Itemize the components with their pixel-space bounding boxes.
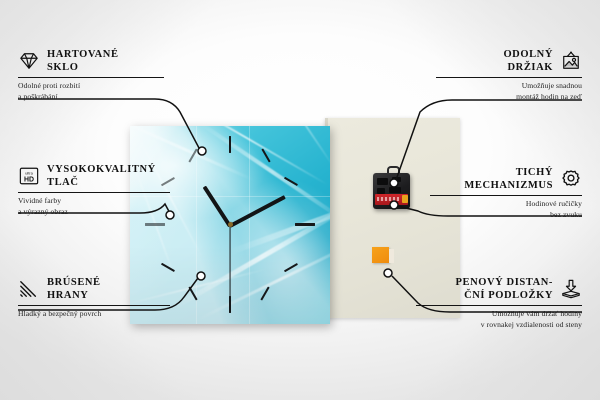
foam-spacer-icon [560,279,582,299]
feature-header: ultra HD VYSOKOKVALITNÝTLAČ [18,163,170,190]
feature-subtitle-line1: Umožňuje vám držať hodiny [492,309,582,318]
feature-header: TICHÝMECHANIZMUS [430,166,582,193]
feature-divider [18,305,170,306]
feature-foam-spacers[interactable]: PENOVÝ DISTAN-ČNÍ PODLOŽKY Umožňuje vám … [416,276,582,330]
feature-subtitle: Hladký a bezpečný povrch [18,309,170,320]
feature-subtitle-line2: montáž hodin na zeď [516,92,582,101]
feature-subtitle: Umožňuje vám držať hodinyv rovnakej vzdi… [416,309,582,331]
feature-subtitle: Umožňuje snadnoumontáž hodin na zeď [436,81,582,103]
feature-divider [416,305,582,306]
feature-subtitle: Vividné farbya výrazný obraz [18,196,170,218]
feature-durable-hanger[interactable]: ODOLNÝDRŽIAK Umožňuje snadnoumontáž hodi… [436,48,582,102]
feature-header: PENOVÝ DISTAN-ČNÍ PODLOŽKY [416,276,582,303]
picture-hanger-icon [560,51,582,71]
feature-divider [18,77,164,78]
feature-subtitle-line2: v rovnakej vzdialenosti od steny [481,320,582,329]
feature-subtitle-line1: Umožňuje snadnou [522,81,582,90]
feature-title: TICHÝMECHANIZMUS [464,166,553,193]
clock-center-hub [228,222,233,227]
infographic-canvas: HARTOVANÉSKLO Odolné proti rozbitía pošk… [0,0,600,400]
beveled-edge-icon [18,279,40,299]
feature-beveled-edges[interactable]: BRÚSENÉHRANY Hladký a bezpečný povrch [18,276,170,320]
feature-title-line1: PENOVÝ DISTAN- [456,277,553,288]
product-photo [130,118,460,324]
feature-title-line1: BRÚSENÉ [47,277,101,288]
feature-divider [436,77,582,78]
feature-title-line2: MECHANIZMUS [464,180,553,191]
hour-tick-6 [229,296,231,313]
svg-text:HD: HD [24,177,34,184]
foam-spacer-pad-side [389,249,394,263]
hour-tick-3 [295,223,315,226]
feature-title-line1: TICHÝ [516,167,553,178]
gear-icon [560,169,582,189]
feature-title-line2: DRŽIAK [508,62,553,73]
feature-title-line2: TLAČ [47,177,78,188]
feature-hardened-glass[interactable]: HARTOVANÉSKLO Odolné proti rozbitía pošk… [18,48,164,102]
svg-text:ultra: ultra [25,171,33,176]
feature-title-line2: HRANY [47,290,88,301]
battery-label [377,197,399,201]
battery-positive-terminal [402,195,408,203]
feature-title-line1: ODOLNÝ [503,49,553,60]
hour-tick-12 [229,136,231,153]
feature-title-line1: VYSOKOKVALITNÝ [47,164,156,175]
feature-subtitle-line2: a poškrábání [18,92,58,101]
second-hand [229,226,230,298]
feature-title: VYSOKOKVALITNÝTLAČ [47,163,156,190]
feature-title: ODOLNÝDRŽIAK [503,48,553,75]
feature-subtitle-line2: a výrazný obraz [18,207,68,216]
feature-header: HARTOVANÉSKLO [18,48,164,75]
feature-header: ODOLNÝDRŽIAK [436,48,582,75]
feature-title: BRÚSENÉHRANY [47,276,101,303]
feature-subtitle: Odolné proti rozbitía poškrábání [18,81,164,103]
feature-subtitle-line1: Odolné proti rozbití [18,81,80,90]
feature-title-line2: SKLO [47,62,79,73]
feature-title-line2: ČNÍ PODLOŽKY [464,290,553,301]
feature-header: BRÚSENÉHRANY [18,276,170,303]
feature-title-line1: HARTOVANÉ [47,49,119,60]
feature-subtitle: Hodinové ručičkybez zvuku [430,199,582,221]
feature-silent-mechanism[interactable]: TICHÝMECHANIZMUS Hodinové ručičkybez zvu… [430,166,582,220]
foam-spacer-pad [372,247,389,263]
feature-divider [18,192,170,193]
feature-subtitle-line2: bez zvuku [550,210,582,219]
feature-title: PENOVÝ DISTAN-ČNÍ PODLOŽKY [456,276,553,303]
ultra-hd-icon: ultra HD [18,166,40,186]
hour-tick-9 [145,223,165,226]
feature-subtitle-line1: Hodinové ručičky [526,199,582,208]
feature-subtitle-line1: Hladký a bezpečný povrch [18,309,101,318]
feature-high-quality-print[interactable]: ultra HD VYSOKOKVALITNÝTLAČ Vividné farb… [18,163,170,217]
feature-title: HARTOVANÉSKLO [47,48,119,75]
feature-subtitle-line1: Vividné farby [18,196,61,205]
diamond-icon [18,51,40,71]
feature-divider [430,195,582,196]
